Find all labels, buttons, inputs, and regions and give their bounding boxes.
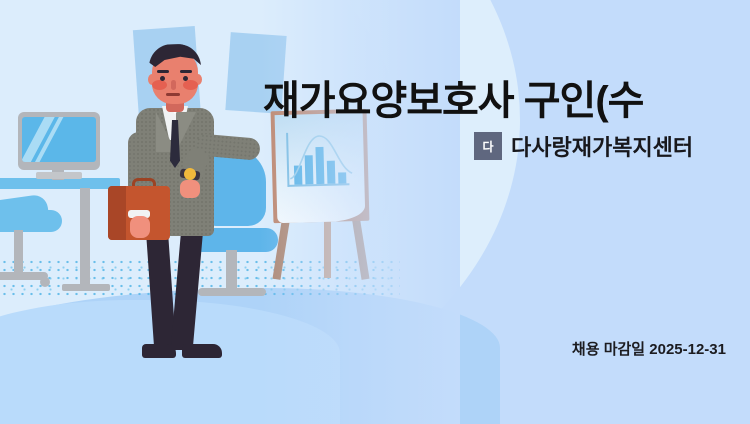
organization-name: 다사랑재가복지센터 <box>511 130 693 162</box>
organization-row: 다 다사랑재가복지센터 <box>474 130 693 162</box>
leg-right <box>171 228 204 350</box>
hand-right <box>180 180 200 198</box>
mouth <box>166 93 180 96</box>
eyebrow-left <box>157 70 169 73</box>
hand-left <box>130 216 150 238</box>
cheek-right <box>183 80 198 90</box>
organization-logo-badge: 다 <box>474 132 502 160</box>
eye-right <box>183 76 188 81</box>
cheek-left <box>152 80 167 90</box>
shoe-right <box>182 344 222 358</box>
page-title: 재가요양보호사 구인(수 <box>263 68 643 126</box>
illustration-fade-overlay <box>260 0 460 424</box>
job-posting-banner: 재가요양보호사 구인(수 다 다사랑재가복지센터 채용 마감일 2025-12-… <box>0 0 750 424</box>
nose <box>171 80 176 90</box>
eyebrow-right <box>180 70 192 73</box>
eye-left <box>160 76 165 81</box>
application-deadline: 채용 마감일 2025-12-31 <box>572 338 726 359</box>
shoe-left <box>142 344 176 358</box>
briefcase-shadow <box>108 186 126 240</box>
